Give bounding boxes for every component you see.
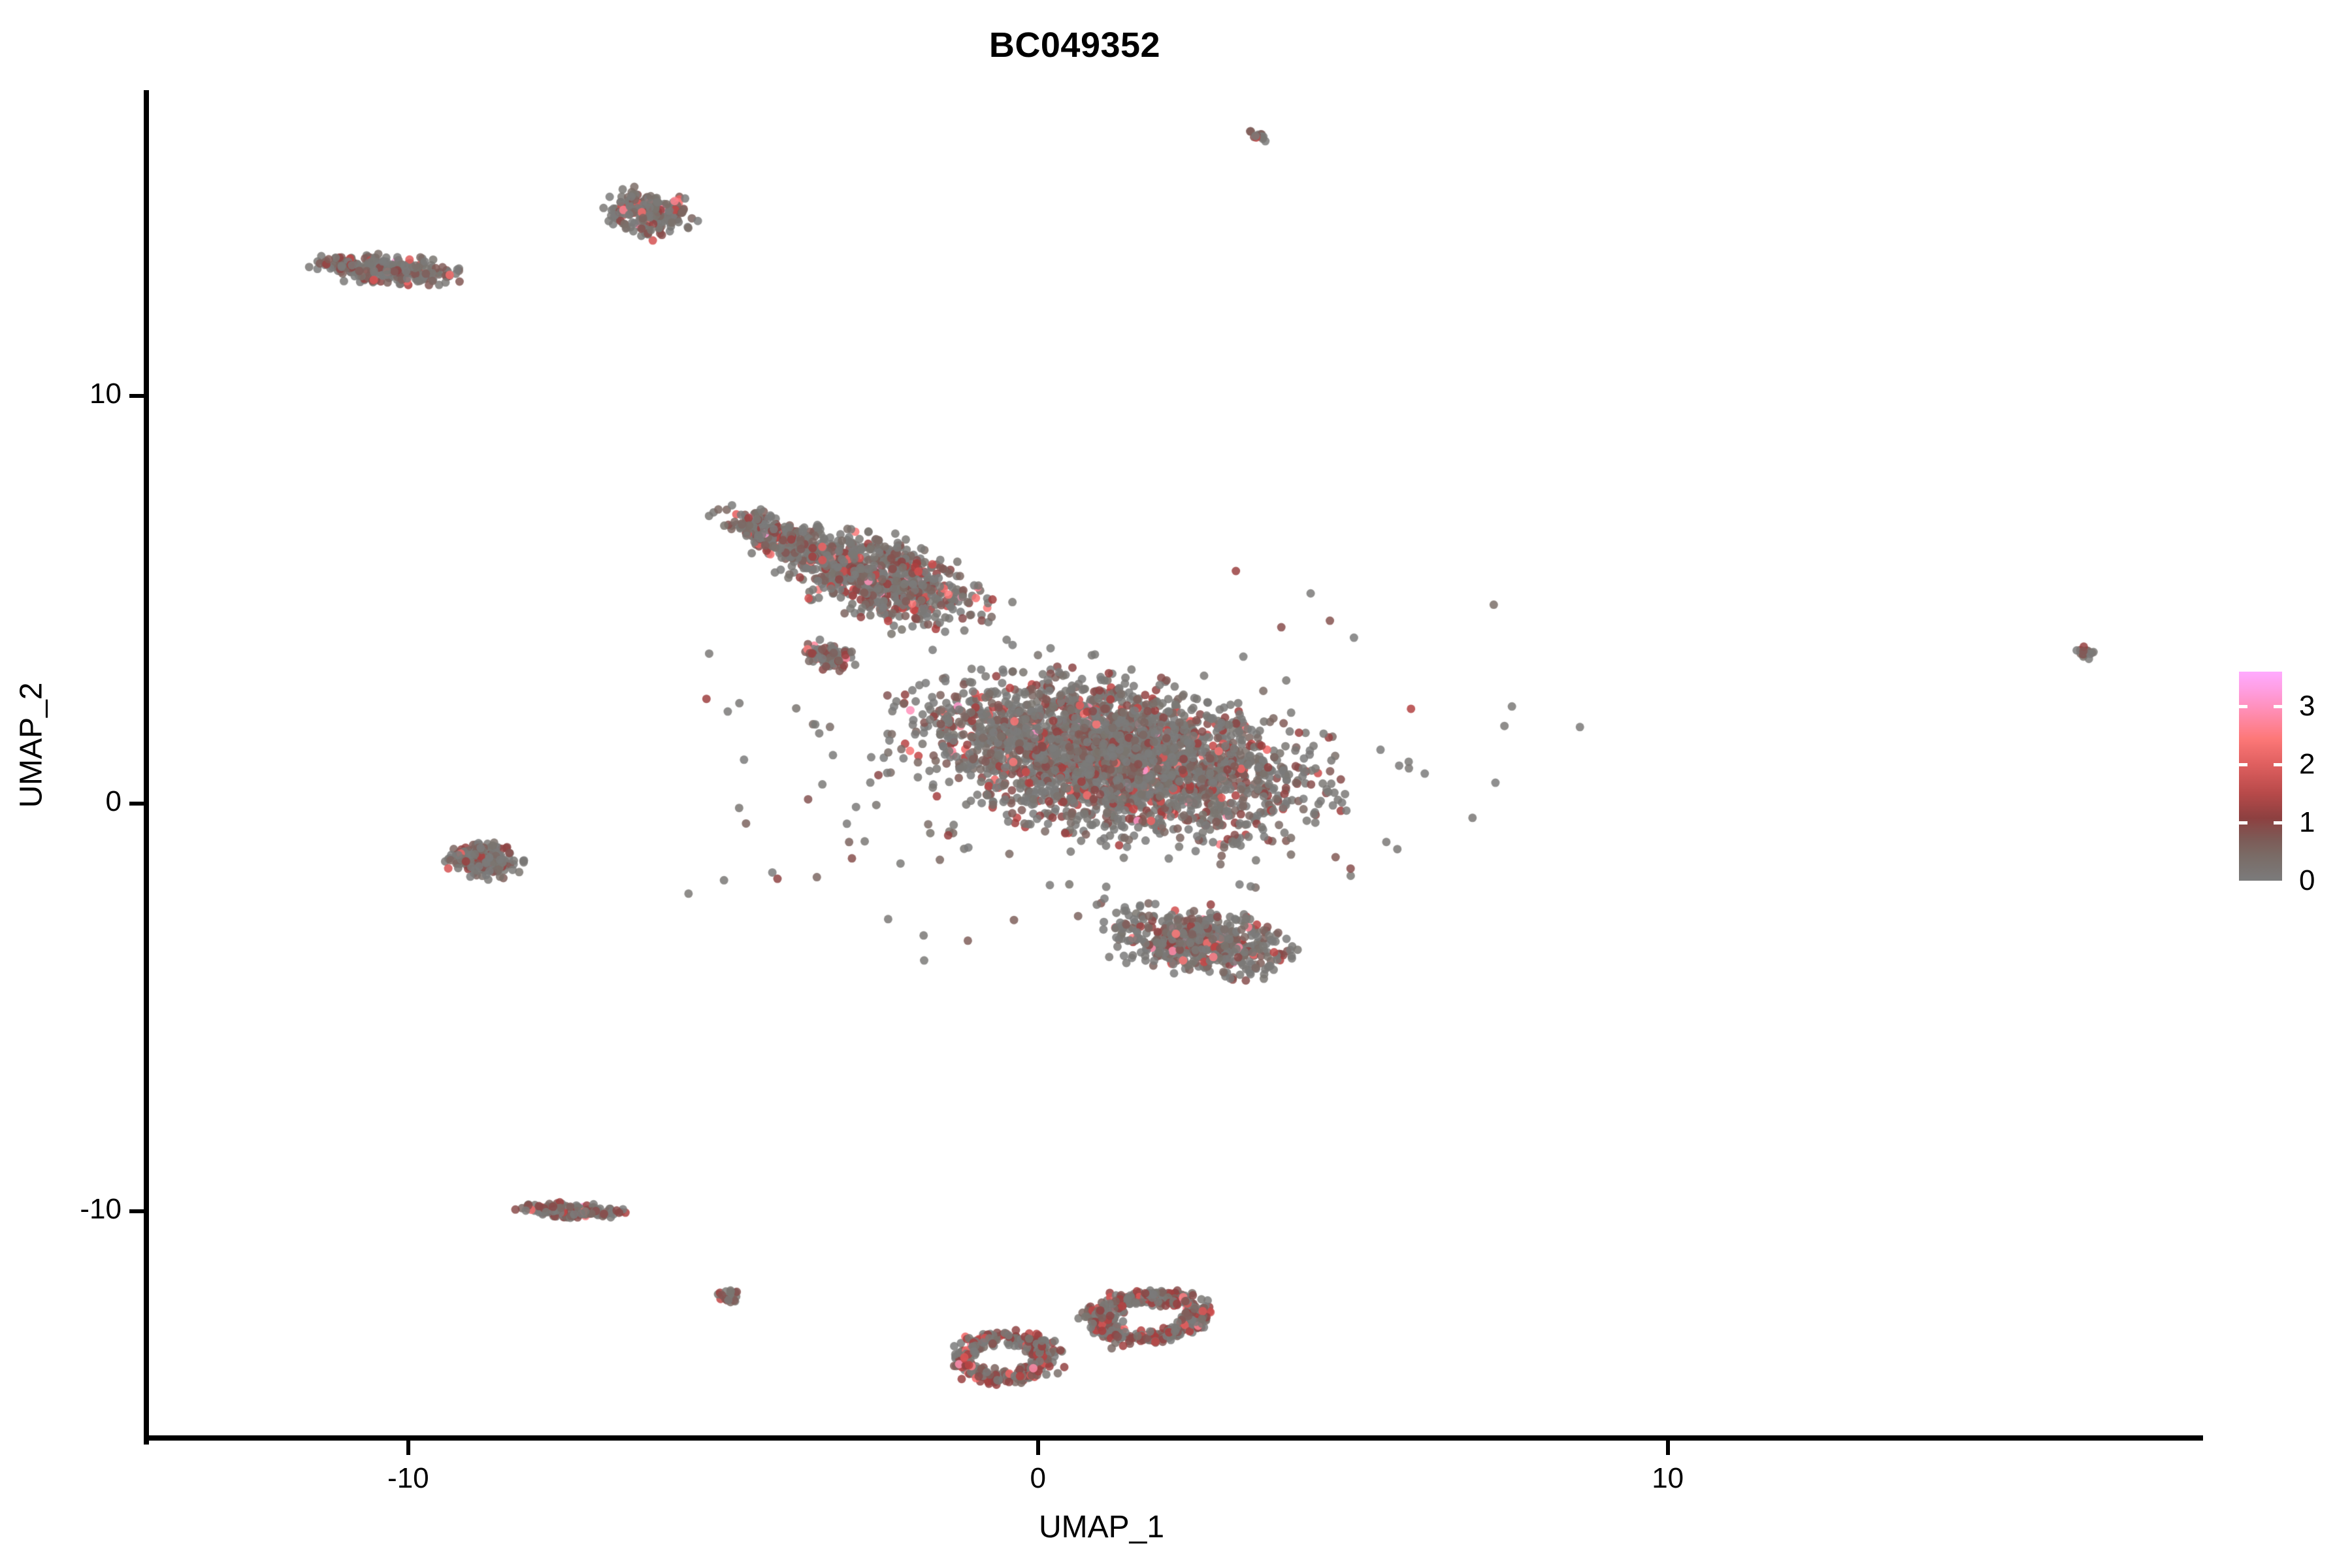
colorbar-tick-label: 1	[2299, 808, 2315, 837]
colorbar-tick-mark	[2239, 705, 2247, 708]
y-axis-title: UMAP_2	[14, 549, 50, 941]
y-axis-line	[144, 90, 149, 1445]
colorbar-tick-mark	[2274, 705, 2282, 708]
colorbar-tick-label: 3	[2299, 692, 2315, 721]
x-tick-label: 10	[1590, 1462, 1746, 1495]
page-title: BC049352	[0, 25, 2149, 65]
y-tick-label: -10	[0, 1193, 122, 1226]
x-tick-label: -10	[330, 1462, 487, 1495]
colorbar-tick-label: 2	[2299, 750, 2315, 779]
x-axis-title: UMAP_1	[0, 1509, 2203, 1545]
x-tick-mark	[406, 1441, 410, 1455]
x-tick-mark	[1666, 1441, 1670, 1455]
x-axis-line	[144, 1435, 2203, 1441]
colorbar-gradient	[2239, 672, 2282, 881]
colorbar-legend[interactable]: 3210	[2239, 672, 2337, 882]
x-tick-label: 0	[960, 1462, 1117, 1495]
colorbar-tick-mark	[2274, 821, 2282, 825]
y-tick-mark	[129, 802, 144, 806]
figure-root: BC049352 100-10 -10010 UMAP_1 UMAP_2 321…	[0, 0, 2352, 1568]
scatter-plot-panel[interactable]	[144, 90, 2203, 1439]
colorbar-tick-mark	[2239, 821, 2247, 825]
y-tick-label: 10	[0, 378, 122, 410]
colorbar-tick-mark	[2274, 763, 2282, 766]
y-tick-mark	[129, 394, 144, 398]
scatter-points-canvas	[144, 90, 2203, 1439]
colorbar-tick-label: 0	[2299, 866, 2315, 895]
x-tick-mark	[1036, 1441, 1040, 1455]
colorbar-tick-mark	[2239, 763, 2247, 766]
y-tick-mark	[129, 1209, 144, 1213]
